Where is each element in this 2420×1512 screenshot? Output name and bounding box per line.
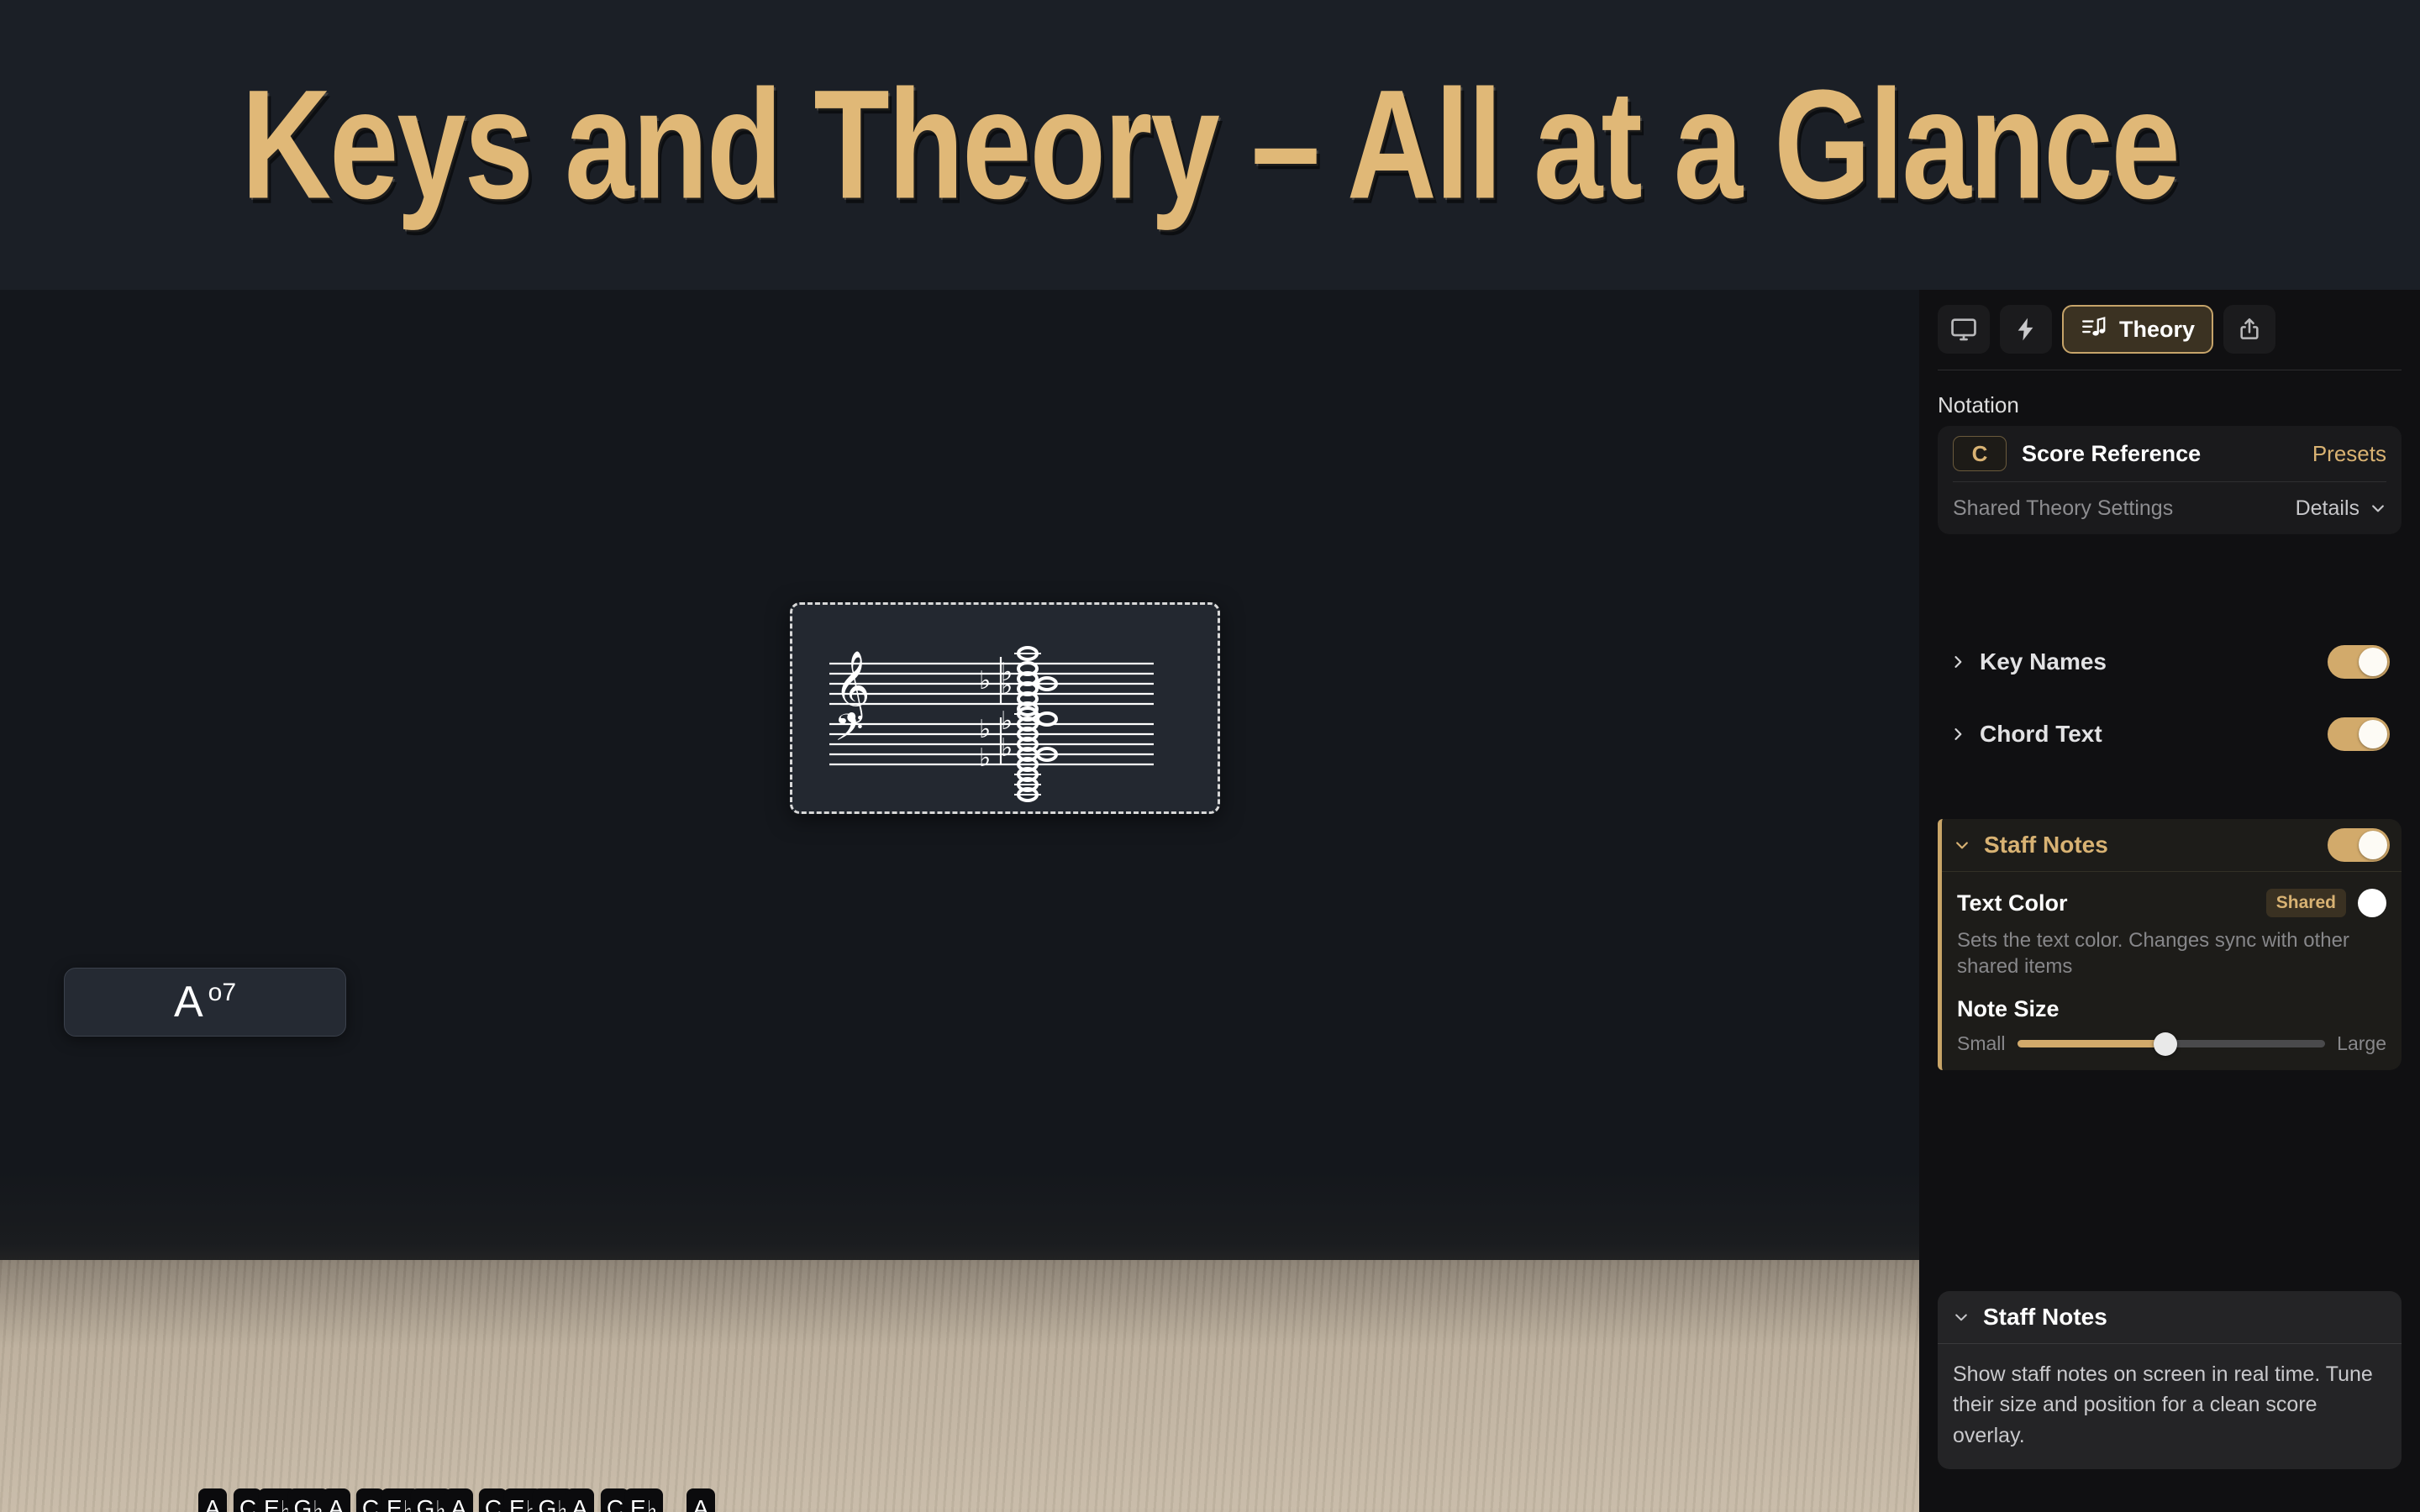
slider-fill: [2018, 1040, 2165, 1047]
score-reference-badge[interactable]: C: [1953, 436, 2007, 471]
lightning-icon: [2012, 316, 2039, 343]
slider-max-label: Large: [2337, 1032, 2386, 1055]
tab-theory[interactable]: Theory: [2062, 305, 2213, 354]
help-header[interactable]: Staff Notes: [1938, 1291, 2402, 1343]
toggle-knob: [2359, 831, 2387, 859]
slider-thumb[interactable]: [2154, 1032, 2177, 1056]
note-size-slider[interactable]: [2018, 1040, 2326, 1047]
presets-link[interactable]: Presets: [2312, 441, 2386, 467]
performance-button[interactable]: [2000, 305, 2052, 354]
staff-overlay-box[interactable]: 𝄞 𝄢 ♭ ♭ ♭ ♭ ♭ ♭: [790, 602, 1220, 814]
key-name-letter: E: [264, 1495, 280, 1512]
tab-theory-label: Theory: [2119, 317, 2195, 343]
shared-badge: Shared: [2266, 889, 2346, 917]
chevron-down-icon: [2370, 500, 2386, 517]
score-reference-card: C Score Reference Presets Shared Theory …: [1938, 426, 2402, 534]
chord-root: A: [174, 980, 203, 1024]
app-root: Keys and Theory – All at a Glance: [0, 0, 2420, 1512]
chevron-down-icon[interactable]: [1954, 837, 1970, 853]
key-name-badge: E♭: [624, 1488, 663, 1512]
key-name-letter: C: [362, 1495, 379, 1512]
svg-text:♭: ♭: [979, 743, 991, 773]
share-icon: [2236, 316, 2263, 343]
key-name-letter: A: [205, 1495, 221, 1512]
chevron-down-icon[interactable]: [1953, 1309, 1970, 1326]
key-name-badge: A: [322, 1488, 350, 1512]
toolbar-divider: [1938, 370, 2402, 370]
key-name-badge: A: [198, 1488, 227, 1512]
floor-background: [0, 1260, 1919, 1512]
section-title-notation: Notation: [1938, 392, 2019, 418]
key-name-badge: A: [687, 1488, 715, 1512]
staff-notes-body: Text Color Shared Sets the text color. C…: [1942, 872, 2402, 1070]
details-label: Details: [2296, 496, 2359, 521]
chevron-right-icon[interactable]: [1949, 726, 1966, 743]
toggle-knob: [2359, 648, 2387, 676]
panel-toolbar: Theory: [1938, 305, 2275, 354]
color-swatch[interactable]: [2358, 889, 2386, 917]
help-title: Staff Notes: [1983, 1304, 2107, 1331]
key-name-letter: G: [293, 1495, 312, 1512]
key-name-letter: C: [485, 1495, 502, 1512]
chord-superscript: o7: [208, 980, 236, 1005]
key-name-letter: G: [416, 1495, 434, 1512]
svg-text:♭: ♭: [1001, 706, 1013, 736]
flat-symbol: ♭: [647, 1496, 657, 1512]
chord-label[interactable]: Ao7: [64, 968, 346, 1037]
key-name-letter: C: [607, 1495, 623, 1512]
display-icon: [1949, 315, 1978, 344]
help-body: Show staff notes on screen in real time.…: [1938, 1344, 2402, 1469]
music-note-lines-icon: [2081, 315, 2109, 344]
key-name-letter: A: [451, 1495, 467, 1512]
text-color-label: Text Color: [1957, 890, 2254, 916]
toggle-staff-notes[interactable]: [2328, 828, 2390, 862]
score-reference-row[interactable]: C Score Reference Presets: [1953, 426, 2386, 481]
key-name-badge: A: [445, 1488, 473, 1512]
key-name-letter: E: [630, 1495, 646, 1512]
score-reference-title: Score Reference: [2022, 441, 2297, 467]
key-name-badge: A: [566, 1488, 594, 1512]
shared-settings-label: Shared Theory Settings: [1953, 496, 2296, 521]
staff-notes-card: Staff Notes Text Color Shared Sets the t…: [1938, 819, 2402, 1070]
svg-text:♭: ♭: [979, 715, 991, 744]
text-color-row[interactable]: Text Color Shared: [1957, 884, 2386, 922]
row-chord-text[interactable]: Chord Text: [1938, 708, 2402, 760]
display-button[interactable]: [1938, 305, 1990, 354]
help-card: Staff Notes Show staff notes on screen i…: [1938, 1291, 2402, 1469]
theory-settings-panel: Theory Notation C Score Reference Preset…: [1919, 290, 2420, 1512]
key-name-letter: E: [509, 1495, 525, 1512]
toggle-chord-text[interactable]: [2328, 717, 2390, 751]
toggle-knob: [2359, 720, 2387, 748]
key-name-letter: A: [572, 1495, 588, 1512]
row-staff-notes-label: Staff Notes: [1984, 832, 2314, 858]
key-name-letter: A: [329, 1495, 345, 1512]
share-button[interactable]: [2223, 305, 2275, 354]
row-staff-notes[interactable]: Staff Notes: [1942, 819, 2402, 871]
page-title-bar: Keys and Theory – All at a Glance: [0, 0, 2420, 290]
row-chord-text-label: Chord Text: [1980, 721, 2314, 748]
chevron-right-icon[interactable]: [1949, 654, 1966, 670]
key-name-letter: E: [387, 1495, 402, 1512]
shared-settings-row[interactable]: Shared Theory Settings Details: [1953, 482, 2386, 534]
svg-text:♭: ♭: [1001, 733, 1013, 763]
row-key-names-label: Key Names: [1980, 648, 2314, 675]
note-size-label: Note Size: [1957, 996, 2386, 1022]
key-name-letter: A: [693, 1495, 709, 1512]
key-name-letter: G: [538, 1495, 556, 1512]
grand-staff: 𝄞 𝄢 ♭ ♭ ♭ ♭ ♭ ♭: [792, 605, 1223, 816]
page-title: Keys and Theory – All at a Glance: [241, 55, 2179, 234]
svg-text:♭: ♭: [1001, 671, 1013, 701]
row-key-names[interactable]: Key Names: [1938, 636, 2402, 688]
note-size-slider-row[interactable]: Small Large: [1957, 1032, 2386, 1055]
toggle-key-names[interactable]: [2328, 645, 2390, 679]
key-name-letter: C: [239, 1495, 256, 1512]
key-name-overlay: ACE♭G♭ACE♭G♭ACE♭G♭ACE♭A: [0, 1488, 1919, 1512]
slider-min-label: Small: [1957, 1032, 2006, 1055]
performance-stage: 𝄞 𝄢 ♭ ♭ ♭ ♭ ♭ ♭: [0, 290, 1919, 1512]
svg-text:𝄢: 𝄢: [834, 706, 864, 759]
svg-text:♭: ♭: [979, 666, 991, 696]
text-color-description: Sets the text color. Changes sync with o…: [1957, 927, 2360, 979]
details-toggle[interactable]: Details: [2296, 496, 2386, 521]
